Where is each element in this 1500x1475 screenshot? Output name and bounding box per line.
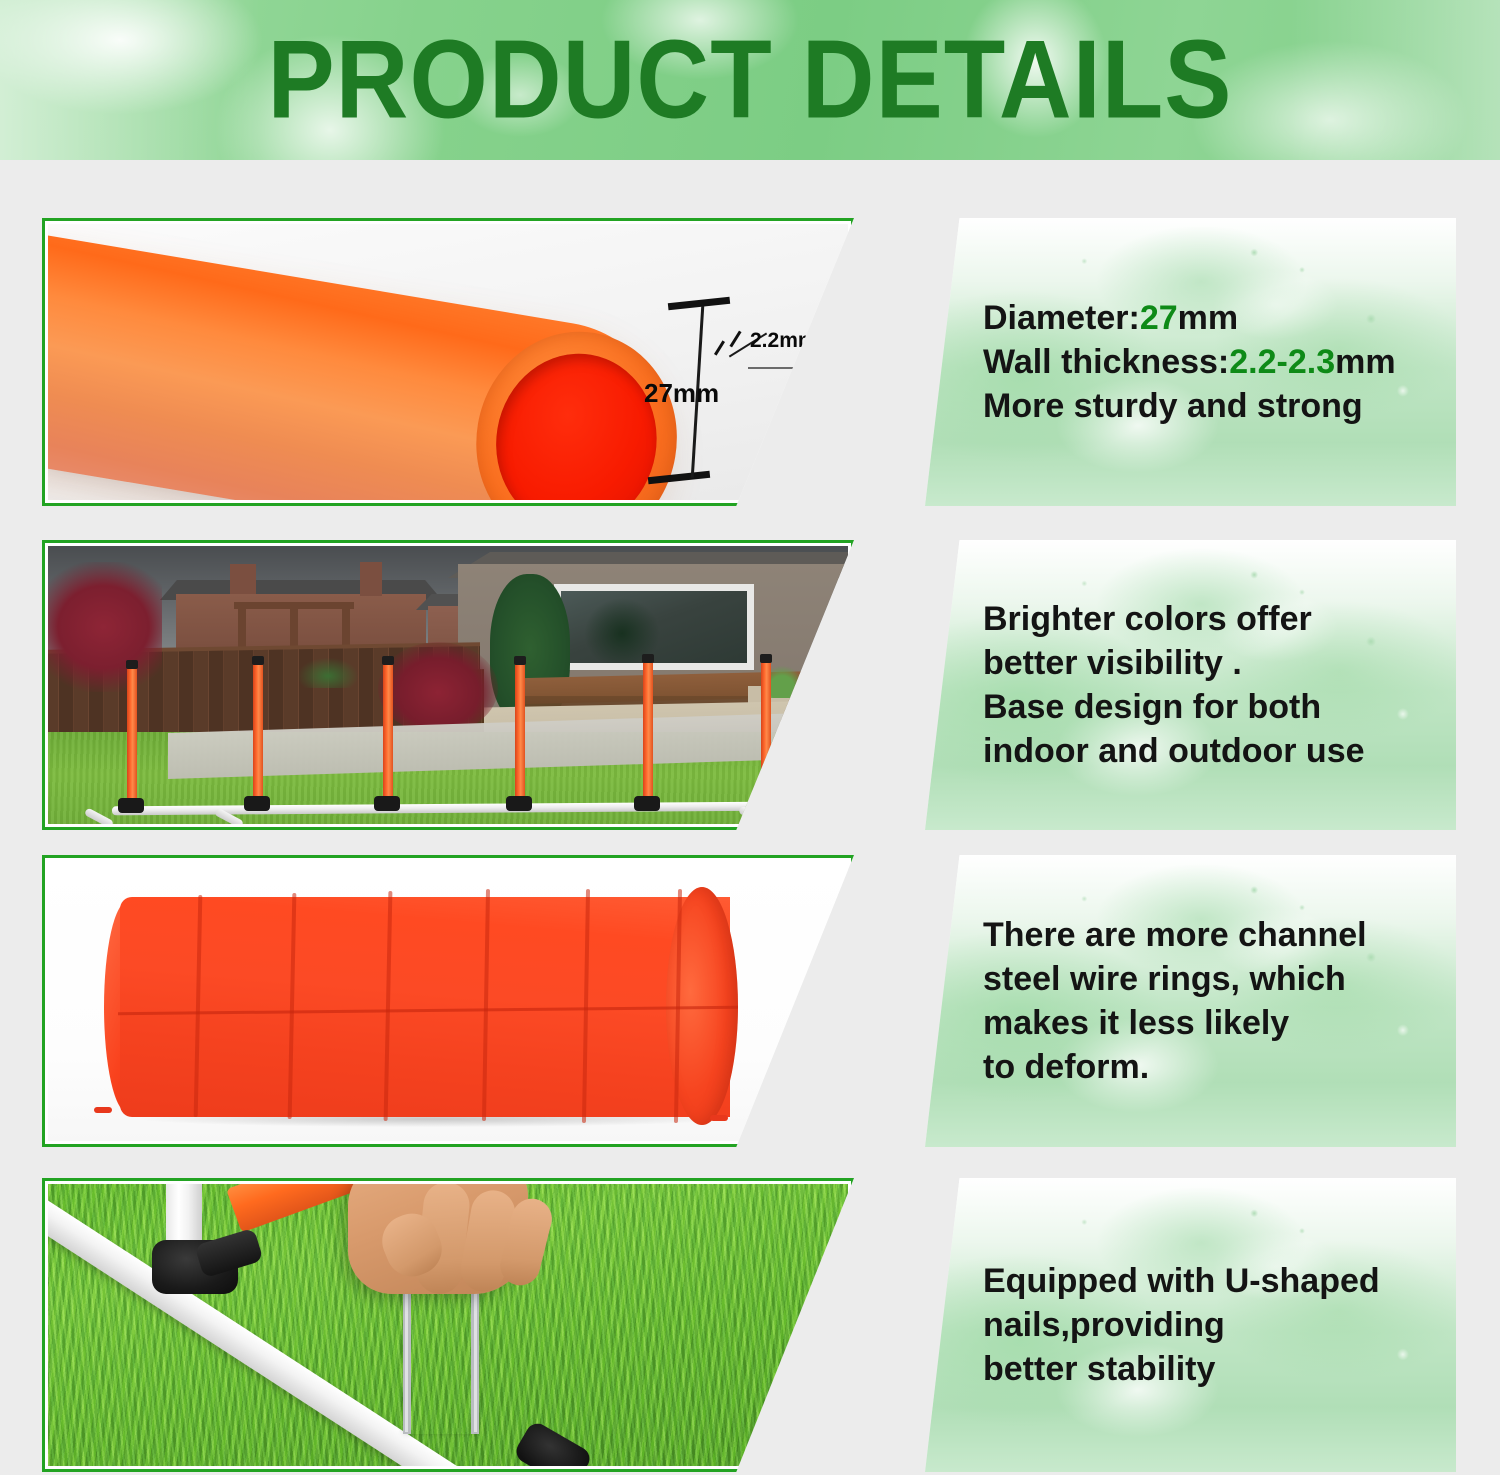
- detail-row-4: Equipped with U-shaped nails,providing b…: [0, 1178, 1500, 1472]
- palm-reflection: [579, 593, 665, 663]
- green-shrub: [298, 658, 358, 688]
- detail-row-2: Brighter colors offer better visibility …: [0, 540, 1500, 830]
- detail-text-body-3: There are more channel steel wire rings,…: [983, 855, 1438, 1147]
- agility-pole: [761, 660, 771, 808]
- detail-text-highlight: 2.2-2.3: [1229, 343, 1335, 381]
- detail-text-panel-1: Diameter:27mm Wall thickness:2.2-2.3mm M…: [925, 218, 1456, 506]
- detail-text-segment: mm: [1335, 343, 1395, 381]
- agility-pole: [643, 660, 653, 808]
- detail-line: Equipped with U-shaped: [983, 1259, 1438, 1303]
- red-maple-left: [48, 562, 162, 692]
- detail-line: nails,providing: [983, 1303, 1438, 1347]
- pole-cap: [514, 656, 526, 665]
- thickness-value-label: 2.2mm: [750, 329, 817, 353]
- detail-text-segment: mm: [1178, 299, 1238, 337]
- base-connector: [506, 796, 532, 811]
- pipe-comparison-photo: Others 27mm 2.2mm: [42, 218, 854, 506]
- tunnel-tie-strap-left: [94, 1107, 112, 1113]
- detail-line: Diameter:27mm: [983, 296, 1438, 340]
- detail-line: There are more channel: [983, 913, 1438, 957]
- orange-tunnel-photo: [42, 855, 854, 1147]
- base-connector: [374, 796, 400, 811]
- diameter-value-label: 27mm: [644, 378, 719, 409]
- page-title: PRODUCT DETAILS: [0, 0, 1500, 174]
- detail-line: better visibility .: [983, 641, 1438, 685]
- house-window: [554, 584, 754, 670]
- base-connector: [634, 796, 660, 811]
- chimney-right: [360, 562, 382, 596]
- backyard-agility-poles-photo: [42, 540, 854, 830]
- pipe-comparison-photo-inner: Others 27mm 2.2mm: [48, 224, 848, 500]
- detail-line: Wall thickness:2.2-2.3mm: [983, 340, 1438, 384]
- base-connector: [118, 798, 144, 813]
- detail-line: steel wire rings, which: [983, 957, 1438, 1001]
- tunnel-tie-strap-right: [710, 1115, 728, 1121]
- detail-row-3: There are more channel steel wire rings,…: [0, 855, 1500, 1147]
- pole-cap: [252, 656, 264, 665]
- hosta-plant: [814, 672, 848, 698]
- thickness-leader-horizontal: [748, 367, 848, 369]
- pole-cap: [760, 654, 772, 663]
- detail-text-panel-4: Equipped with U-shaped nails,providing b…: [925, 1178, 1456, 1472]
- chimney-left: [230, 564, 256, 594]
- u-shaped-nail-photo: [42, 1178, 854, 1472]
- detail-text-panel-3: There are more channel steel wire rings,…: [925, 855, 1456, 1147]
- page-header-banner: PRODUCT DETAILS: [0, 0, 1500, 160]
- detail-line: indoor and outdoor use: [983, 729, 1438, 773]
- base-foot-stub: [738, 805, 768, 824]
- detail-line: Brighter colors offer: [983, 597, 1438, 641]
- detail-line: More sturdy and strong: [983, 384, 1438, 428]
- agility-pole: [383, 662, 393, 806]
- detail-line: Base design for both: [983, 685, 1438, 729]
- stake-photo-inner: [48, 1184, 848, 1466]
- detail-line: to deform.: [983, 1045, 1438, 1089]
- detail-line: better stability: [983, 1347, 1438, 1391]
- pole-cap: [642, 654, 654, 663]
- agility-pole: [253, 662, 263, 804]
- base-connector: [244, 796, 270, 811]
- detail-text-highlight: 27: [1140, 299, 1178, 337]
- pole-cap: [126, 660, 138, 669]
- agility-pole: [127, 666, 137, 800]
- base-connector: [752, 796, 778, 811]
- detail-text-segment: More sturdy and strong: [983, 387, 1363, 425]
- detail-text-segment: Wall thickness:: [983, 343, 1229, 381]
- detail-text-body-2: Brighter colors offer better visibility …: [983, 540, 1438, 830]
- detail-text-body-4: Equipped with U-shaped nails,providing b…: [983, 1178, 1438, 1472]
- backyard-photo-inner: [48, 546, 848, 824]
- agility-pole: [515, 662, 525, 808]
- detail-line: makes it less likely: [983, 1001, 1438, 1045]
- detail-text-segment: Diameter:: [983, 299, 1140, 337]
- detail-row-1: Others 27mm 2.2mm Diameter:27mm: [0, 218, 1500, 506]
- detail-text-panel-2: Brighter colors offer better visibility …: [925, 540, 1456, 830]
- tunnel-photo-inner: [48, 861, 848, 1141]
- detail-text-body-1: Diameter:27mm Wall thickness:2.2-2.3mm M…: [983, 218, 1438, 506]
- pole-cap: [382, 656, 394, 665]
- red-maple-right: [378, 642, 498, 734]
